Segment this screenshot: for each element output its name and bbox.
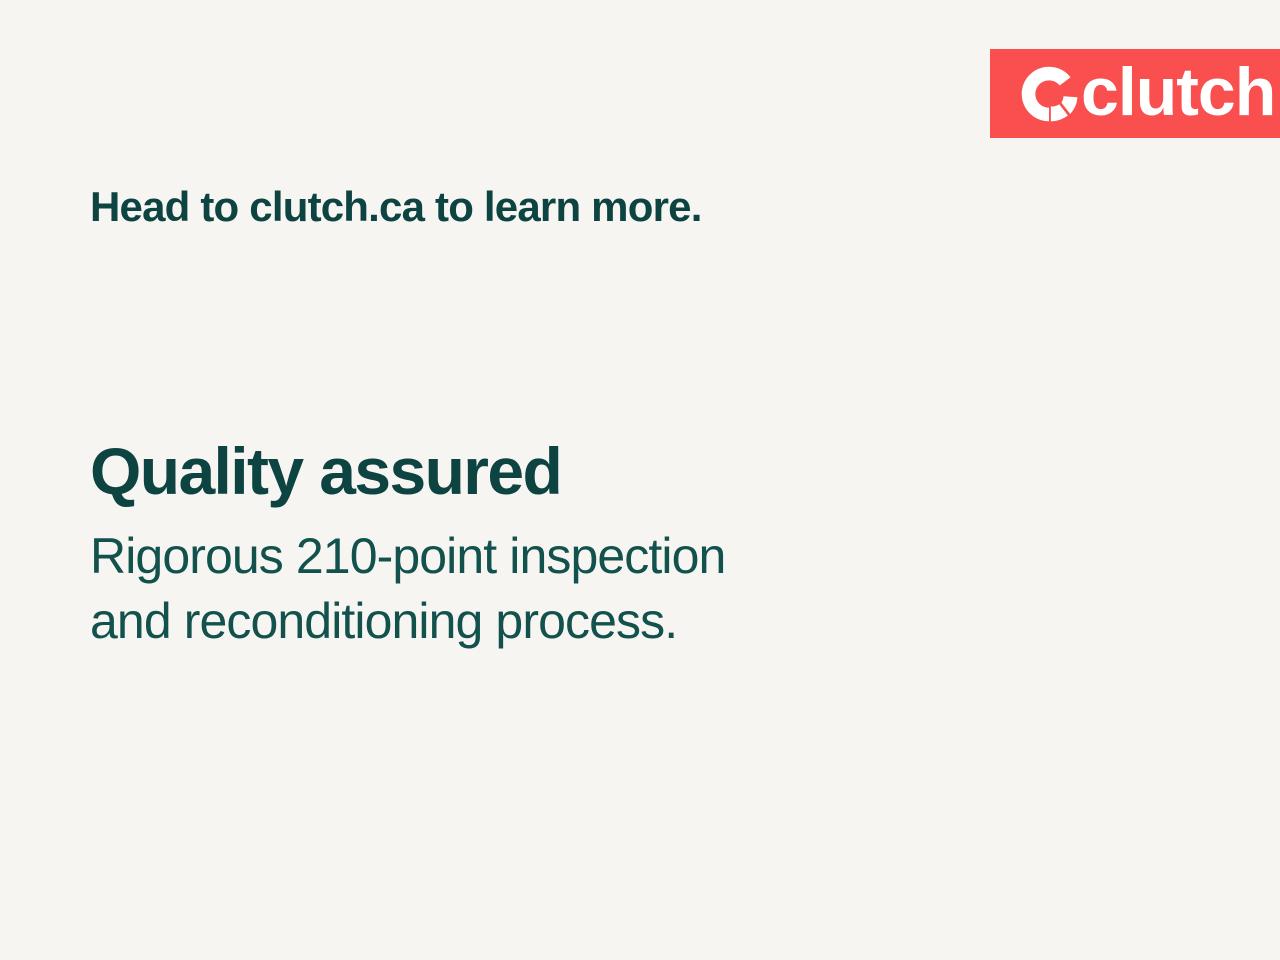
headline: Quality assured (90, 437, 990, 506)
clutch-logo[interactable]: clutch (1018, 60, 1275, 128)
clutch-c-mark-icon (1018, 63, 1080, 125)
slide-canvas: clutch Head to clutch.ca to learn more. … (0, 0, 1280, 960)
subhead-line-1: Rigorous 210-point inspection (90, 524, 990, 589)
clutch-wordmark: clutch (1081, 58, 1275, 126)
brand-band: clutch (990, 49, 1280, 138)
subhead: Rigorous 210-point inspection and recond… (90, 524, 990, 654)
eyebrow-text: Head to clutch.ca to learn more. (90, 183, 702, 231)
message-block: Quality assured Rigorous 210-point inspe… (90, 437, 990, 654)
subhead-line-2: and reconditioning process. (90, 589, 990, 654)
